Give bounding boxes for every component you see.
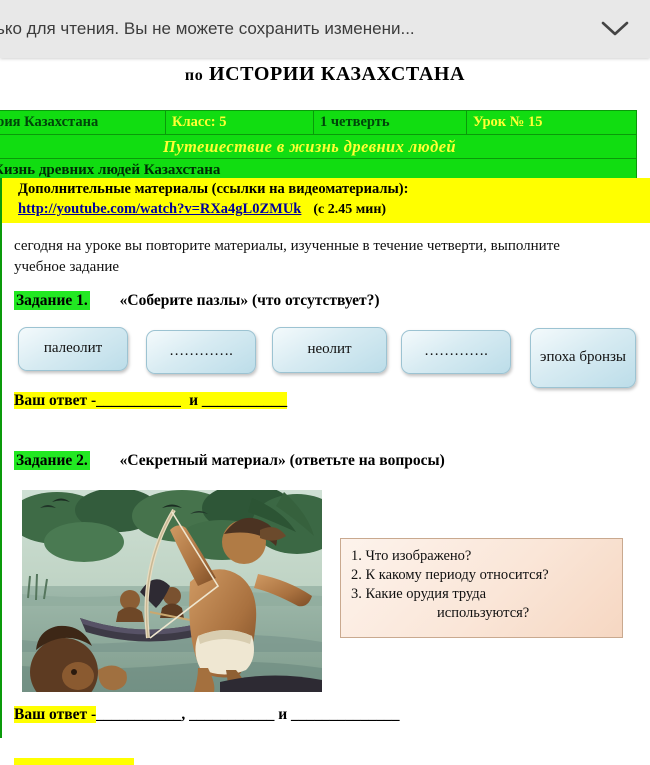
lesson-subtitle: Путешествие в жизнь древних людей — [0, 135, 637, 159]
page-title-prefix: по — [185, 67, 203, 84]
task2-answer-conjunction: и — [278, 706, 287, 723]
document-left-margin-rule — [0, 178, 2, 738]
task2-answer-blank-2[interactable]: ___________ — [189, 706, 274, 723]
task2-answer-blank-1[interactable]: ___________ — [96, 706, 181, 723]
readonly-notification-bar[interactable]: ько для чтения. Вы не можете сохранить и… — [0, 0, 650, 58]
cell-class: Класс: 5 — [166, 111, 314, 135]
task1-answer-label: Ваш ответ - — [14, 392, 96, 409]
task1-badge: Задание 1. — [14, 291, 90, 310]
video-duration: (с 2.45 мин) — [313, 202, 386, 217]
task1-answer-blank-2[interactable]: ___________ — [202, 392, 287, 409]
lesson-info-table: ория Казахстана Класс: 5 1 четверть Урок… — [0, 110, 637, 183]
puzzle-box-3[interactable]: неолит — [272, 327, 387, 373]
task1-answer-line[interactable]: Ваш ответ -___________ и ___________ — [14, 392, 287, 410]
task2-answer-blank-3[interactable]: ______________ — [291, 706, 400, 723]
page-title-main: ИСТОРИИ КАЗАХСТАНА — [209, 63, 465, 85]
puzzle-box-5[interactable]: эпоха бронзы — [530, 328, 636, 388]
question-3-continuation: используются? — [351, 604, 612, 623]
next-section-sliver — [14, 758, 134, 765]
document-page: по ИСТОРИИ КАЗАХСТАНА ория Казахстана Кл… — [0, 0, 650, 765]
task1-heading: Задание 1. «Соберите пазлы» (что отсутст… — [14, 292, 614, 310]
readonly-message: ько для чтения. Вы не можете сохранить и… — [0, 19, 580, 39]
task2-title: «Секретный материал» (ответьте на вопрос… — [120, 452, 445, 469]
prehistoric-archer-image — [22, 490, 322, 692]
question-2: 2. К какому периоду относится? — [351, 566, 612, 585]
additional-materials-block: Дополнительные материалы (ссылки на виде… — [0, 178, 650, 223]
question-3: 3. Какие орудия труда — [351, 585, 612, 604]
task2-heading: Задание 2. «Секретный материал» (ответьт… — [14, 452, 614, 470]
additional-materials-label: Дополнительные материалы (ссылки на виде… — [18, 180, 650, 198]
task1-answer-conjunction: и — [189, 392, 198, 409]
chevron-down-icon[interactable] — [580, 20, 650, 38]
additional-materials-link-row: http://youtube.com/watch?v=RXa4gL0ZMUk (… — [18, 199, 650, 219]
lesson-intro-text: сегодня на уроке вы повторите материалы,… — [14, 236, 614, 279]
task1-title: «Соберите пазлы» (что отсутствует?) — [120, 292, 380, 309]
table-row-subtitle: Путешествие в жизнь древних людей — [0, 135, 637, 159]
cell-lesson-number: Урок № 15 — [467, 111, 637, 135]
puzzle-box-2[interactable]: …………. — [146, 330, 256, 374]
cell-quarter: 1 четверть — [314, 111, 467, 135]
question-1: 1. Что изображено? — [351, 547, 612, 566]
puzzle-boxes-row: палеолит …………. неолит …………. эпоха бронзы — [0, 325, 650, 400]
table-row-meta: ория Казахстана Класс: 5 1 четверть Урок… — [0, 111, 637, 135]
task2-badge: Задание 2. — [14, 451, 90, 470]
video-link[interactable]: http://youtube.com/watch?v=RXa4gL0ZMUk — [18, 201, 301, 217]
page-title: по ИСТОРИИ КАЗАХСТАНА — [0, 63, 650, 86]
cell-subject: ория Казахстана — [0, 111, 166, 135]
task2-answer-label: Ваш ответ - — [14, 706, 96, 723]
task2-answer-line[interactable]: Ваш ответ -___________, ___________ и __… — [14, 706, 400, 724]
puzzle-box-4[interactable]: …………. — [401, 330, 511, 374]
task1-answer-blank-1[interactable]: ___________ — [96, 392, 181, 409]
puzzle-box-1[interactable]: палеолит — [18, 327, 128, 371]
questions-box: 1. Что изображено? 2. К какому периоду о… — [340, 538, 623, 638]
